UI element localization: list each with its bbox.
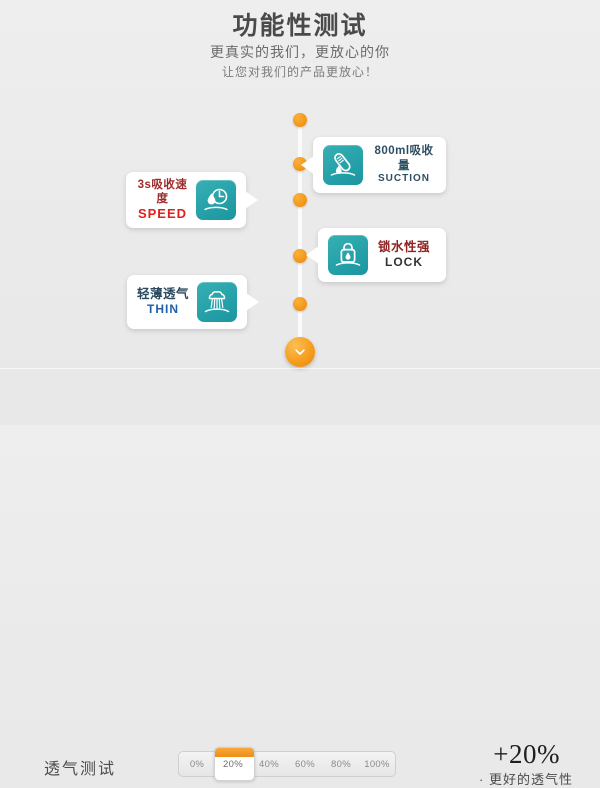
scale-tick-80[interactable]: 80%: [323, 759, 359, 770]
feature-card-speed[interactable]: 3s吸收速度 SPEED: [126, 172, 246, 228]
feature-card-suction-text: 800ml吸收量 SUCTION: [372, 144, 436, 185]
timeline-dot: [293, 249, 307, 263]
page-header: 功能性测试 更真实的我们，更放心的你 让您对我们的产品更放心！: [0, 10, 600, 82]
feature-card-thin[interactable]: 轻薄透气 THIN: [127, 275, 247, 329]
feature-card-suction-label-en: SUCTION: [372, 173, 436, 186]
feature-card-lock-label-en: LOCK: [378, 255, 430, 270]
scale-tick-100[interactable]: 100%: [359, 759, 395, 770]
scale-tick-20[interactable]: 20%: [215, 759, 251, 770]
feature-card-speed-label-en: SPEED: [136, 206, 189, 222]
card-pointer: [246, 293, 259, 311]
page-subtitle-2: 让您对我们的产品更放心！: [0, 63, 600, 82]
feature-card-lock[interactable]: 锁水性强 LOCK: [318, 228, 446, 282]
feature-card-speed-label-cn: 3s吸收速度: [136, 178, 189, 207]
test-tube-icon: [323, 145, 363, 185]
scale-tick-60[interactable]: 60%: [287, 759, 323, 770]
feature-card-thin-text: 轻薄透气 THIN: [137, 287, 189, 318]
feature-card-suction[interactable]: 800ml吸收量 SUCTION: [313, 137, 446, 193]
feature-card-lock-label-cn: 锁水性强: [378, 240, 430, 256]
card-pointer: [245, 191, 258, 209]
timeline-dot: [293, 113, 307, 127]
feature-card-suction-label-cn: 800ml吸收量: [372, 144, 436, 173]
scale-tick-40[interactable]: 40%: [251, 759, 287, 770]
clock-waterdrop-icon: [196, 180, 236, 220]
breathability-test-section: 透气测试 0% 20% 40% 60% 80% 100% +20% · 更好的透…: [0, 369, 600, 425]
feature-card-thin-label-en: THIN: [137, 302, 189, 317]
timeline-dot: [293, 193, 307, 207]
breathability-result-value: +20%: [493, 739, 560, 770]
timeline-dot: [293, 297, 307, 311]
feature-card-lock-text: 锁水性强 LOCK: [378, 240, 430, 271]
scale-marker-cap: [215, 748, 254, 757]
padlock-waterdrop-icon: [328, 235, 368, 275]
card-pointer: [306, 246, 319, 264]
breathability-scale[interactable]: 0% 20% 40% 60% 80% 100%: [178, 751, 396, 777]
page-title: 功能性测试: [0, 10, 600, 42]
breathability-result-caption: · 更好的透气性: [479, 769, 573, 788]
card-pointer: [301, 156, 314, 174]
breathable-tree-icon: [197, 282, 237, 322]
scale-tick-0[interactable]: 0%: [179, 759, 215, 770]
page-subtitle-1: 更真实的我们，更放心的你: [0, 42, 600, 63]
feature-card-speed-text: 3s吸收速度 SPEED: [136, 178, 189, 223]
timeline-end-button[interactable]: [285, 337, 315, 367]
chevron-down-icon: [293, 345, 307, 359]
breathability-test-label: 透气测试: [44, 755, 116, 779]
feature-card-thin-label-cn: 轻薄透气: [137, 287, 189, 303]
